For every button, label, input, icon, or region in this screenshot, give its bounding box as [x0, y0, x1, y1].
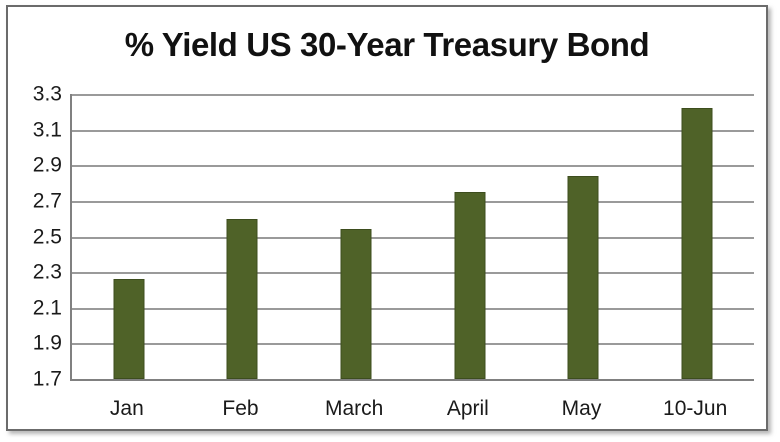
y-axis-tick-label: 1.7 [14, 369, 62, 390]
bar-slot [299, 94, 413, 379]
x-axis-tick-label: May [562, 398, 602, 419]
bar-slot [527, 94, 641, 379]
x-axis-tick-label: March [325, 398, 383, 419]
bar[interactable] [227, 219, 258, 379]
x-axis-tick-label: April [447, 398, 489, 419]
y-axis-tick-label: 3.3 [14, 84, 62, 105]
x-axis-tick-labels: JanFebMarchAprilMay10-Jun [70, 390, 752, 430]
plot-area [70, 94, 752, 384]
bar[interactable] [568, 176, 599, 379]
bar[interactable] [454, 192, 485, 379]
y-axis-tick-labels: 3.33.12.92.72.52.32.11.91.7 [12, 94, 62, 379]
bar[interactable] [113, 279, 144, 379]
y-axis-tick-label: 1.9 [14, 333, 62, 354]
x-axis-tick-label: Feb [222, 398, 258, 419]
bar-slot [640, 94, 754, 379]
x-axis-tick-label: Jan [110, 398, 144, 419]
bar[interactable] [341, 229, 372, 379]
y-axis-tick-label: 2.5 [14, 226, 62, 247]
chart-frame: % Yield US 30-Year Treasury Bond 3.33.12… [6, 5, 768, 431]
y-axis-tick-label: 2.1 [14, 297, 62, 318]
y-axis-tick-label: 2.9 [14, 155, 62, 176]
gridline [72, 379, 754, 381]
plot-axes [70, 94, 754, 381]
chart-title: % Yield US 30-Year Treasury Bond [8, 23, 766, 67]
x-axis-tick-label: 10-Jun [663, 398, 727, 419]
bar-slot [186, 94, 300, 379]
bar-slot [72, 94, 186, 379]
y-axis-tick-label: 2.3 [14, 262, 62, 283]
bar[interactable] [682, 108, 713, 379]
y-axis-tick-label: 3.1 [14, 119, 62, 140]
bars-layer [72, 94, 754, 379]
bar-slot [413, 94, 527, 379]
y-axis-tick-label: 2.7 [14, 190, 62, 211]
